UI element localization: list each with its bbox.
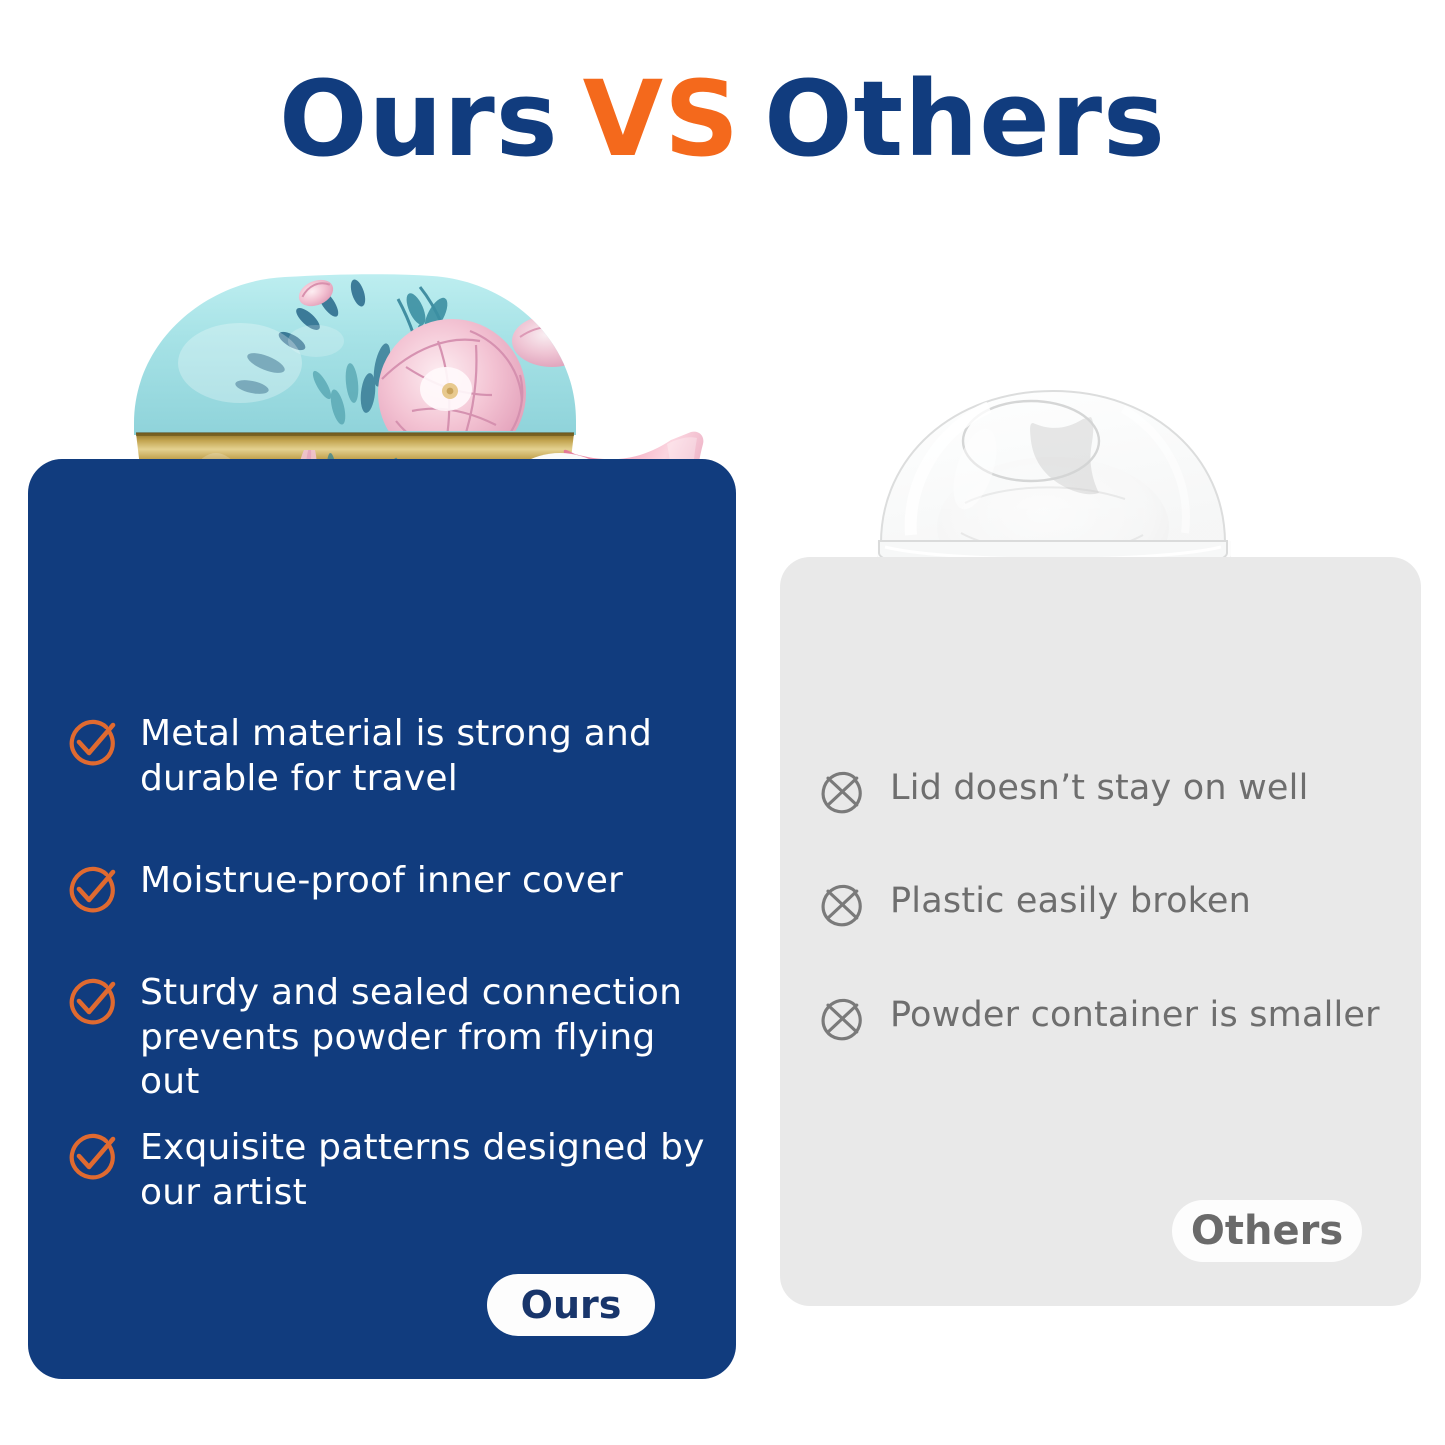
feature-text: Sturdy and sealed connection prevents po… [140,971,724,1105]
comparison-infographic: OursVSOthers [0,0,1445,1445]
check-circle-icon [64,714,118,768]
title-word-ours: Ours [279,62,559,176]
feature-item: Powder container is smaller [816,994,1416,1044]
feature-text: Powder container is smaller [890,994,1380,1037]
check-circle-icon [64,973,118,1027]
check-circle-icon [64,1128,118,1182]
panel-others: Lid doesn’t stay on well Plastic easily … [780,557,1421,1306]
title-word-vs: VS [583,62,740,176]
feature-text: Metal material is strong and durable for… [140,712,724,801]
feature-item: Plastic easily broken [816,880,1416,930]
feature-list-others: Lid doesn’t stay on well Plastic easily … [780,557,1421,1306]
feature-text: Plastic easily broken [890,880,1251,923]
feature-item: Lid doesn’t stay on well [816,767,1416,817]
feature-text: Moistrue-proof inner cover [140,859,623,904]
panel-ours: Metal material is strong and durable for… [28,459,736,1379]
feature-text: Lid doesn’t stay on well [890,767,1309,810]
feature-item: Metal material is strong and durable for… [64,712,724,801]
feature-item: Exquisite patterns designed by our artis… [64,1126,724,1215]
x-circle-icon [816,994,866,1044]
x-circle-icon [816,767,866,817]
check-circle-icon [64,861,118,915]
badge-ours: Ours [487,1274,655,1336]
badge-others: Others [1172,1200,1362,1262]
title-word-others: Others [764,62,1166,176]
feature-text: Exquisite patterns designed by our artis… [140,1126,724,1215]
x-circle-icon [816,880,866,930]
feature-item: Moistrue-proof inner cover [64,859,724,915]
feature-list-ours: Metal material is strong and durable for… [28,459,736,1379]
feature-item: Sturdy and sealed connection prevents po… [64,971,724,1105]
page-title: OursVSOthers [0,62,1445,176]
